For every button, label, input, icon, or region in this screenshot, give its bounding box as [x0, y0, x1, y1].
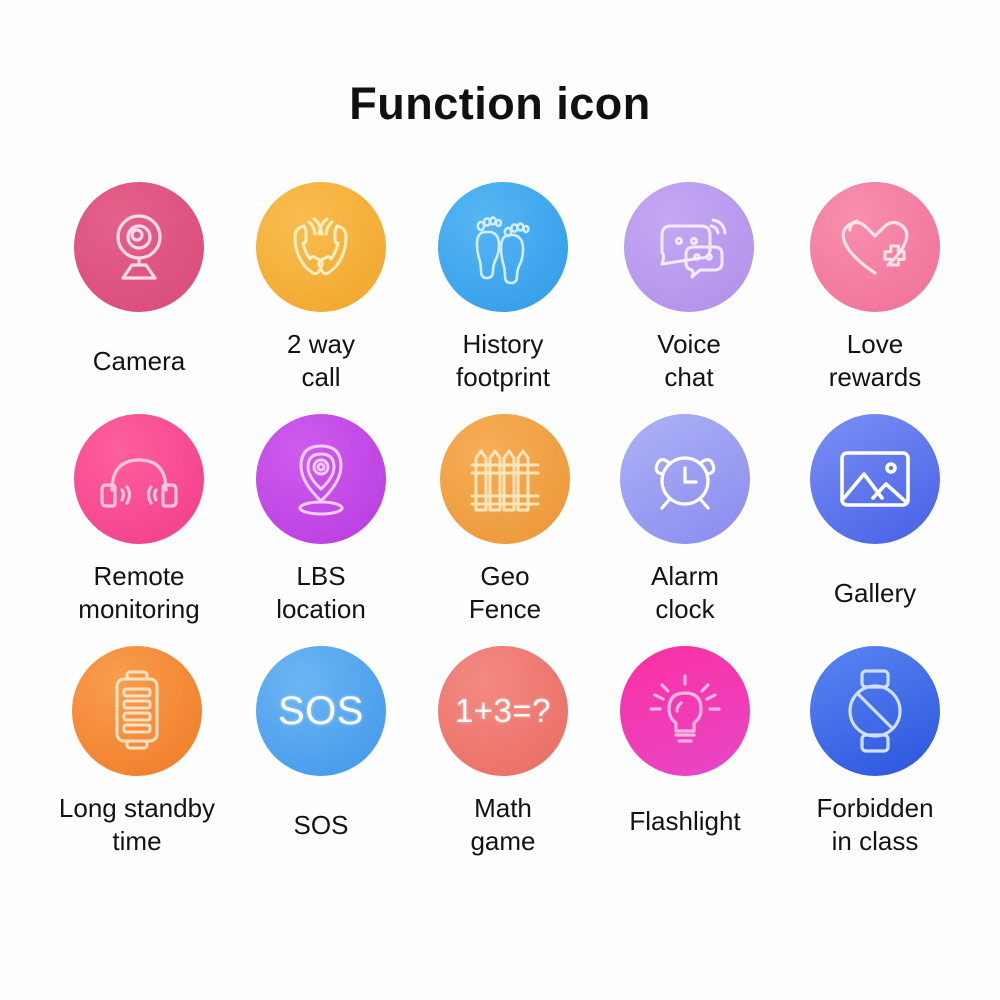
lightbulb-icon [645, 671, 725, 751]
grid-item-label: 2 way call [287, 328, 355, 395]
heart-plus-icon [835, 210, 915, 284]
remote-monitoring-bubble[interactable] [74, 414, 204, 544]
grid-item-long-standby-time[interactable]: Long standby time [46, 646, 228, 878]
long-standby-bubble[interactable] [72, 646, 202, 776]
grid-item-flashlight[interactable]: Flashlight [594, 646, 776, 878]
fence-icon [464, 441, 546, 517]
grid-item-math-game[interactable]: 1+3=? Math game [412, 646, 594, 878]
speech-bubbles-icon [648, 210, 730, 284]
geo-fence-bubble[interactable] [440, 414, 570, 544]
grid-item-label: Love rewards [829, 328, 921, 395]
headphones-icon [96, 443, 182, 515]
grid-item-label: History footprint [456, 328, 550, 395]
sos-bubble[interactable]: SOS [256, 646, 386, 776]
grid-item-sos[interactable]: SOS SOS [230, 646, 412, 878]
history-footprint-bubble[interactable] [438, 182, 568, 312]
photo-icon [835, 446, 915, 512]
gallery-bubble[interactable] [810, 414, 940, 544]
lbs-location-bubble[interactable] [256, 414, 386, 544]
grid-item-label: LBS location [276, 560, 366, 627]
alarm-clock-bubble[interactable] [620, 414, 750, 544]
grid-item-label: Forbidden in class [816, 792, 933, 859]
function-icon-page: Function icon Camera [0, 0, 1000, 1000]
grid-item-label: Geo Fence [469, 560, 541, 627]
grid-item-label: Gallery [834, 577, 916, 610]
grid-item-forbidden-in-class[interactable]: Forbidden in class [784, 646, 966, 878]
sos-text-icon: SOS [278, 689, 364, 734]
map-pin-icon [283, 437, 359, 521]
grid-item-label: SOS [294, 809, 349, 842]
love-rewards-bubble[interactable] [810, 182, 940, 312]
icon-grid: Camera 2 way call [48, 182, 958, 878]
grid-item-remote-monitoring[interactable]: Remote monitoring [48, 414, 230, 646]
grid-item-label: Long standby time [59, 792, 215, 859]
grid-item-camera[interactable]: Camera [48, 182, 230, 414]
grid-item-label: Voice chat [657, 328, 721, 395]
grid-item-voice-chat[interactable]: Voice chat [598, 182, 780, 414]
grid-item-2-way-call[interactable]: 2 way call [230, 182, 412, 414]
grid-item-love-rewards[interactable]: Love rewards [784, 182, 966, 414]
no-smartwatch-icon [839, 667, 911, 755]
grid-item-lbs-location[interactable]: LBS location [230, 414, 412, 646]
voice-chat-bubble[interactable] [624, 182, 754, 312]
grid-item-label: Math game [470, 792, 535, 859]
math-game-bubble[interactable]: 1+3=? [438, 646, 568, 776]
icon-row: Long standby time SOS SOS 1+3=? Math gam… [48, 646, 958, 878]
two-way-call-icon [280, 208, 362, 286]
math-text-icon: 1+3=? [455, 692, 551, 730]
battery-icon [106, 668, 168, 754]
grid-item-label: Alarm clock [651, 560, 719, 627]
grid-item-alarm-clock[interactable]: Alarm clock [594, 414, 776, 646]
grid-item-geo-fence[interactable]: Geo Fence [414, 414, 596, 646]
grid-item-history-footprint[interactable]: History footprint [412, 182, 594, 414]
grid-item-label: Camera [93, 345, 185, 378]
camera-bubble[interactable] [74, 182, 204, 312]
grid-item-label: Flashlight [629, 805, 740, 838]
grid-item-label: Remote monitoring [78, 560, 199, 627]
footprints-icon [463, 207, 543, 287]
two-way-call-bubble[interactable] [256, 182, 386, 312]
grid-item-gallery[interactable]: Gallery [784, 414, 966, 646]
forbidden-in-class-bubble[interactable] [810, 646, 940, 776]
webcam-icon [99, 207, 179, 287]
alarm-clock-icon [645, 439, 725, 519]
icon-row: Remote monitoring LBS location [48, 414, 958, 646]
page-title: Function icon [0, 78, 1000, 130]
icon-row: Camera 2 way call [48, 182, 958, 414]
flashlight-bubble[interactable] [620, 646, 750, 776]
